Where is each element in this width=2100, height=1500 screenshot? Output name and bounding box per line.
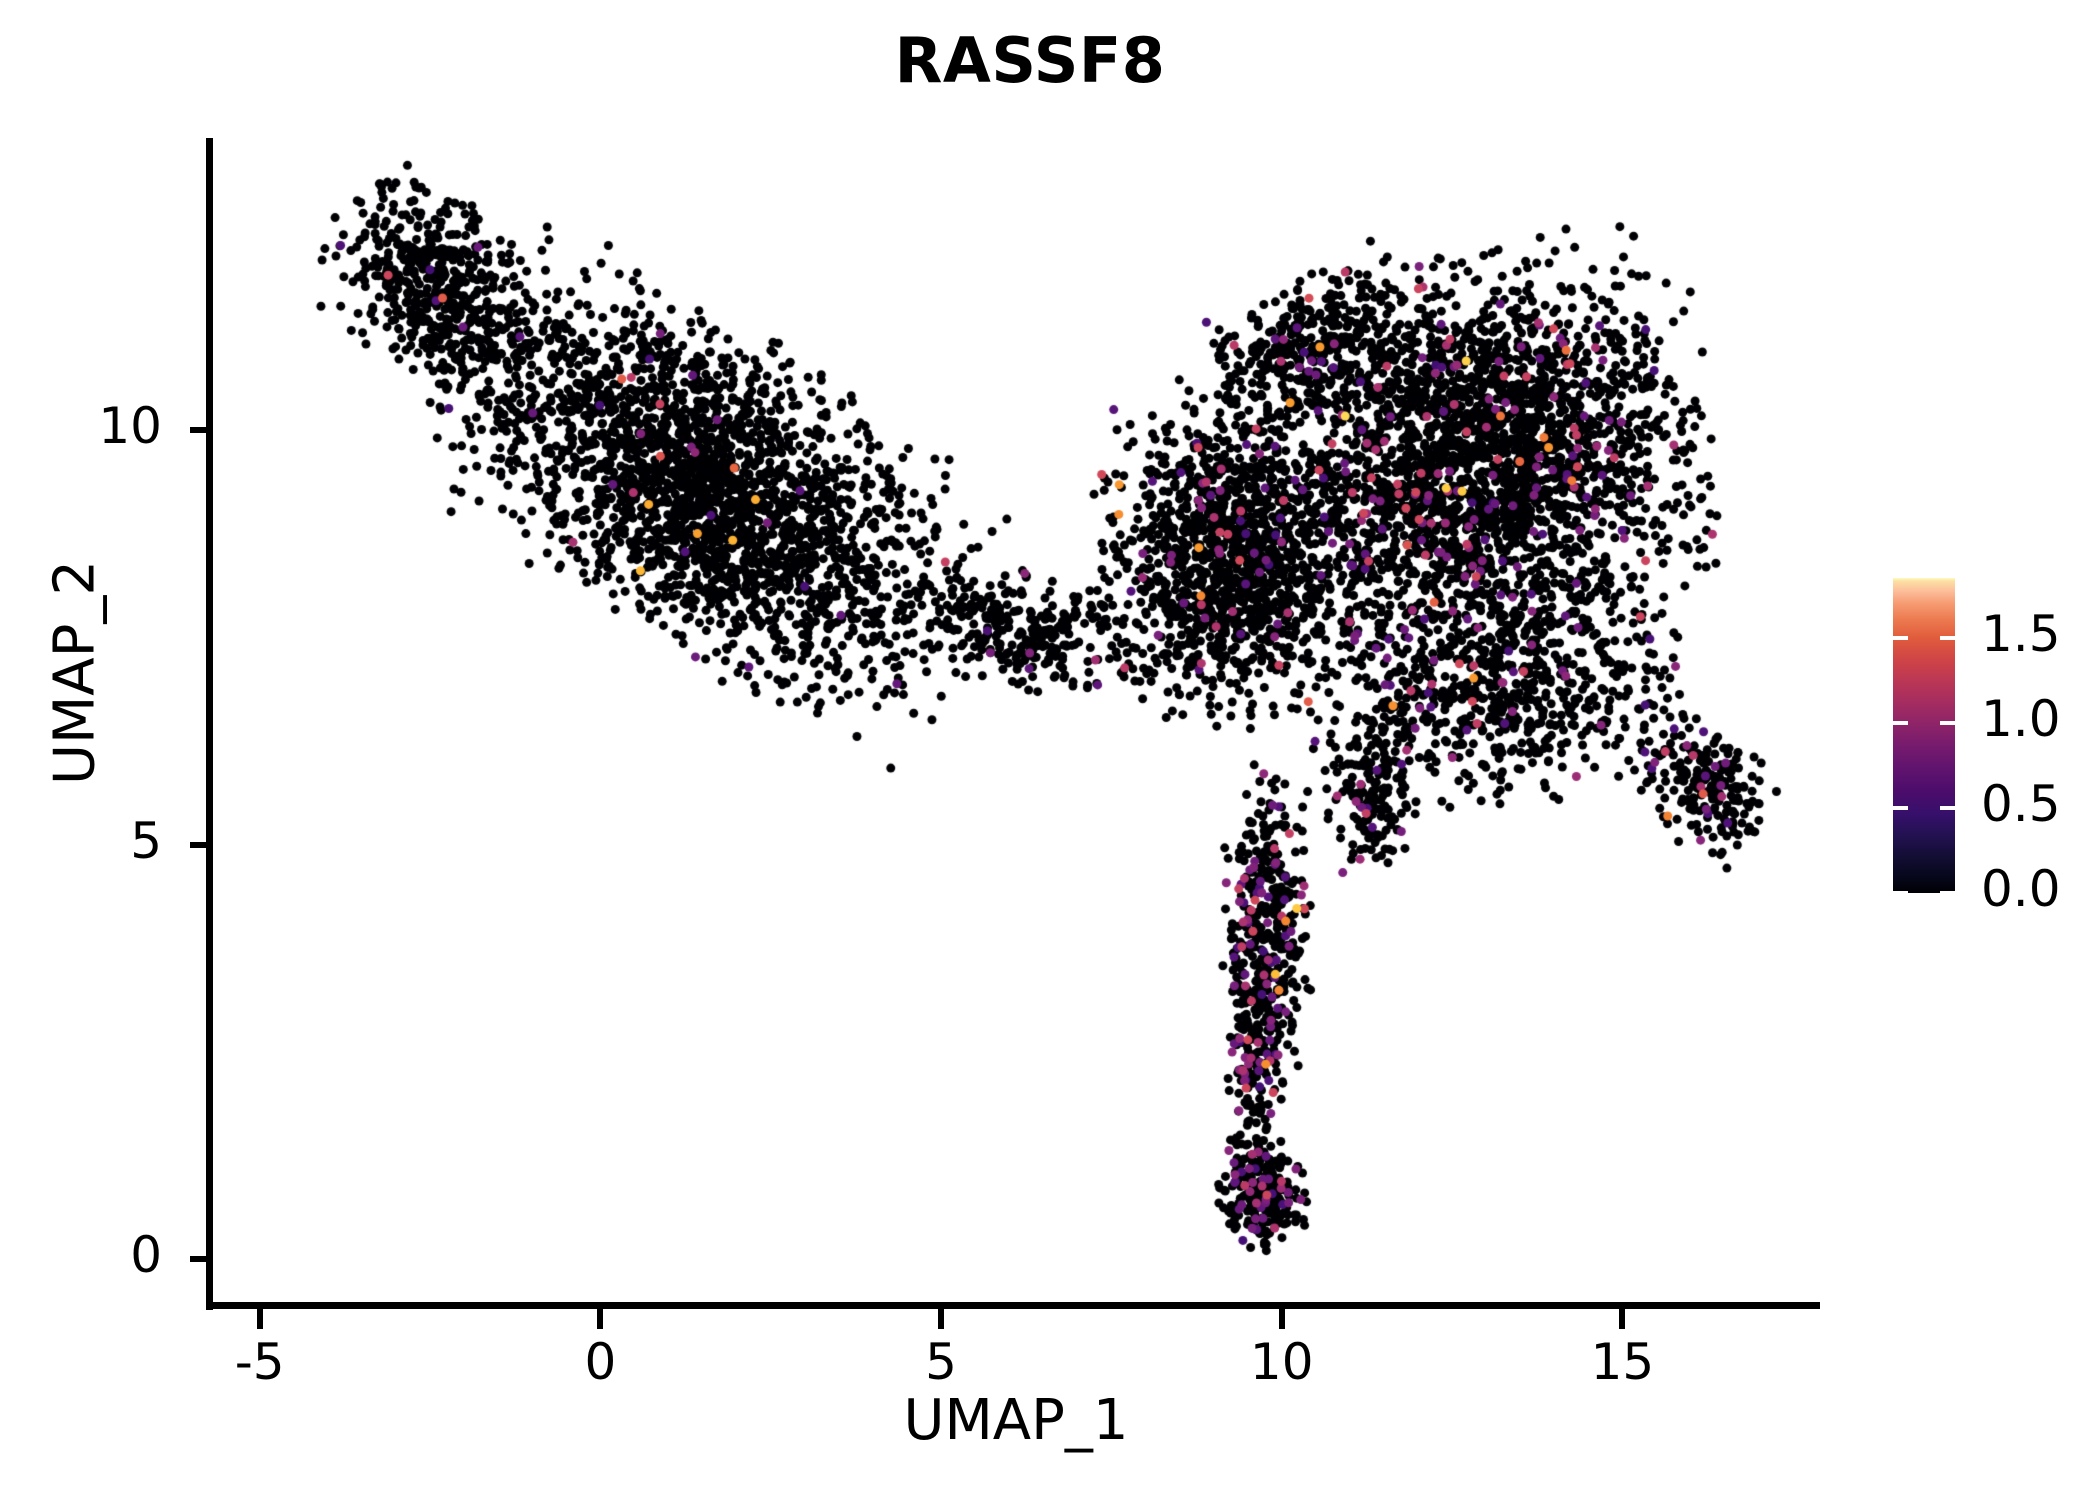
x-tick-label: 10 bbox=[1202, 1333, 1362, 1391]
y-tick-mark bbox=[190, 427, 212, 433]
x-tick-label: -5 bbox=[180, 1333, 340, 1391]
colorbar-tick-label: 1.0 bbox=[1981, 690, 2061, 748]
x-tick-mark bbox=[938, 1307, 944, 1329]
plot-area bbox=[212, 140, 1820, 1305]
x-tick-mark bbox=[1279, 1307, 1285, 1329]
colorbar-gradient bbox=[1893, 578, 1955, 893]
x-tick-mark bbox=[1619, 1307, 1625, 1329]
x-tick-mark bbox=[597, 1307, 603, 1329]
colorbar-tick-mark bbox=[1940, 806, 1955, 810]
colorbar-tick-label: 0.0 bbox=[1981, 860, 2061, 918]
colorbar-tick-mark bbox=[1940, 636, 1955, 640]
page-title: RASSF8 bbox=[0, 24, 2060, 97]
x-tick-mark bbox=[257, 1307, 263, 1329]
colorbar-tick-label: 0.5 bbox=[1981, 775, 2061, 833]
colorbar-tick-mark bbox=[1893, 636, 1908, 640]
scatter-points-canvas bbox=[212, 140, 1820, 1305]
colorbar: 1.51.00.50.0 bbox=[1893, 578, 2093, 893]
y-tick-mark bbox=[190, 842, 212, 848]
x-axis-label: UMAP_1 bbox=[212, 1388, 1820, 1453]
x-tick-label: 15 bbox=[1542, 1333, 1702, 1391]
y-tick-label: 0 bbox=[22, 1226, 162, 1284]
colorbar-tick-label: 1.5 bbox=[1981, 605, 2061, 663]
figure-root: RASSF8 1050 -5051015 UMAP_1 UMAP_2 1.51.… bbox=[0, 0, 2100, 1500]
colorbar-tick-mark bbox=[1893, 891, 1908, 895]
colorbar-tick-mark bbox=[1940, 721, 1955, 725]
colorbar-tick-mark bbox=[1893, 806, 1908, 810]
y-tick-mark bbox=[190, 1256, 212, 1262]
colorbar-tick-mark bbox=[1940, 891, 1955, 895]
x-tick-label: 0 bbox=[520, 1333, 680, 1391]
colorbar-tick-mark bbox=[1893, 721, 1908, 725]
y-axis-label: UMAP_2 bbox=[43, 293, 108, 1053]
x-tick-label: 5 bbox=[861, 1333, 1021, 1391]
